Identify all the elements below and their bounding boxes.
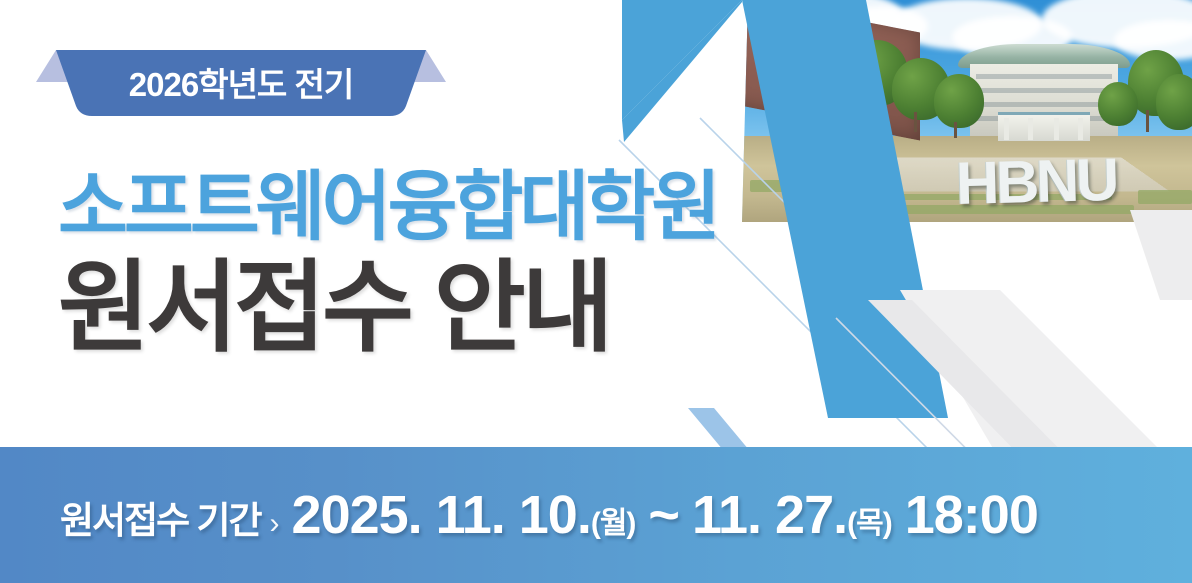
range-mark: ~ [648, 484, 679, 546]
campus-photo: H B N U [742, 0, 1192, 222]
diagonal-band-gray-1 [1130, 210, 1192, 300]
hbnu-letter-n: N [1035, 155, 1070, 208]
page-title-secondary: 원서접수 안내 [58, 253, 717, 363]
hbnu-letter-b: B [995, 156, 1030, 209]
session-ribbon: 2026학년도 전기 [36, 48, 446, 126]
hbnu-sculpture: H B N U [955, 154, 1110, 210]
chevron-left-band-lower [622, 0, 742, 142]
application-period-label: 원서접수 기간 [60, 490, 261, 544]
hbnu-letter-u: U [1075, 154, 1110, 207]
main-building-entrance [998, 112, 1090, 141]
headline-block: 소프트웨어융합대학원 원서접수 안내 [58, 168, 717, 363]
end-weekday: (목) [847, 498, 892, 542]
page-title-primary: 소프트웨어융합대학원 [58, 168, 717, 249]
start-date: 2025. 11. 10. [292, 484, 591, 546]
ribbon-label: 2026학년도 전기 [36, 48, 446, 116]
end-time: 18:00 [905, 484, 1038, 546]
chevron-left-band [622, 0, 742, 120]
start-weekday: (월) [591, 498, 636, 542]
hbnu-letter-h: H [955, 157, 990, 210]
application-period-bar: 원서접수 기간 › 2025. 11. 10. (월) ~ 11. 27. (목… [0, 447, 1192, 583]
campus-photo-image: H B N U [742, 0, 1192, 222]
application-period-text: 원서접수 기간 › 2025. 11. 10. (월) ~ 11. 27. (목… [0, 484, 1038, 546]
chevron-right-icon: › [270, 507, 280, 541]
end-date: 11. 27. [692, 484, 847, 546]
admissions-banner: H B N U [0, 0, 1192, 583]
